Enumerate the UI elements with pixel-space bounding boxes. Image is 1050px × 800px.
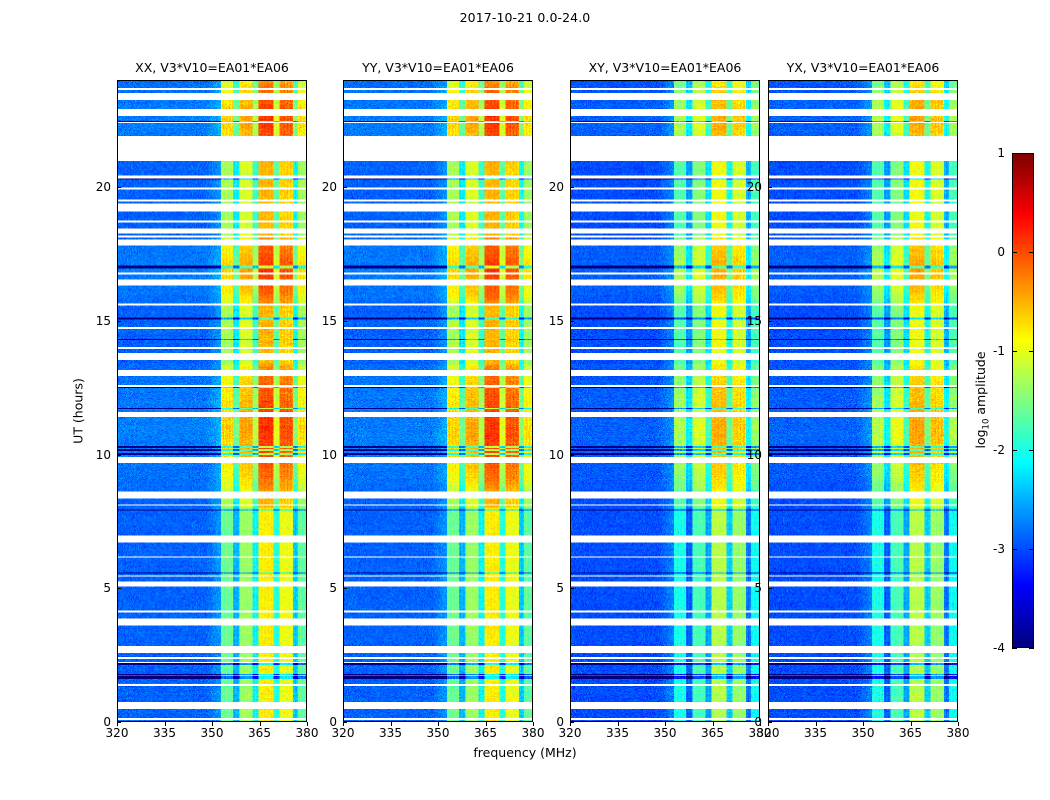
colorbar-tick-mark (1012, 351, 1017, 352)
y-tick-mark (768, 722, 772, 723)
colorbar-tick-mark (1012, 549, 1017, 550)
x-tick-label: 350 (427, 726, 450, 740)
y-tick-label: 0 (309, 715, 337, 729)
x-tick-label: 335 (606, 726, 629, 740)
y-tick-label: 0 (83, 715, 111, 729)
figure-canvas: 2017-10-21 0.0-24.0 XX, V3*V10=EA01*EA06… (0, 0, 1050, 800)
y-tick-label: 20 (734, 180, 762, 194)
y-tick-label: 10 (83, 448, 111, 462)
colorbar-tick-mark (1012, 252, 1017, 253)
y-tick-label: 5 (309, 581, 337, 595)
y-tick-label: 10 (734, 448, 762, 462)
colorbar-tick-mark (1012, 153, 1017, 154)
y-tick-label: 20 (536, 180, 564, 194)
y-tick-label: 10 (536, 448, 564, 462)
x-tick-label: 365 (474, 726, 497, 740)
y-tick-mark (117, 321, 121, 322)
y-tick-label: 0 (536, 715, 564, 729)
y-tick-label: 20 (83, 180, 111, 194)
y-tick-mark (117, 722, 121, 723)
colorbar-tick-label: 0 (975, 245, 1005, 259)
colorbar-tick-label: -1 (975, 344, 1005, 358)
x-tick-label: 350 (654, 726, 677, 740)
y-tick-mark (570, 187, 574, 188)
y-tick-label: 5 (83, 581, 111, 595)
colorbar-tick-mark (1029, 153, 1034, 154)
y-tick-mark (117, 455, 121, 456)
y-tick-mark (570, 722, 574, 723)
panel-title-yy: YY, V3*V10=EA01*EA06 (343, 60, 533, 76)
colorbar-label-sub: 10 (981, 419, 991, 430)
y-tick-mark (768, 321, 772, 322)
colorbar-label: log10 amplitude (973, 351, 992, 448)
x-tick-label: 350 (201, 726, 224, 740)
colorbar-label-suffix: amplitude (973, 351, 988, 418)
y-tick-label: 10 (309, 448, 337, 462)
y-tick-mark (570, 455, 574, 456)
y-tick-label: 15 (536, 314, 564, 328)
y-tick-mark (343, 588, 347, 589)
x-tick-label: 350 (852, 726, 875, 740)
figure-suptitle: 2017-10-21 0.0-24.0 (0, 10, 1050, 25)
x-tick-label: 365 (701, 726, 724, 740)
x-tick-label: 335 (804, 726, 827, 740)
waterfall-panel-xx[interactable] (117, 80, 307, 722)
y-tick-label: 5 (536, 581, 564, 595)
panel-title-xx: XX, V3*V10=EA01*EA06 (117, 60, 307, 76)
y-tick-mark (117, 588, 121, 589)
y-tick-mark (570, 321, 574, 322)
panel-title-xy: XY, V3*V10=EA01*EA06 (570, 60, 760, 76)
colorbar-tick-mark (1029, 252, 1034, 253)
y-tick-mark (768, 588, 772, 589)
waterfall-panel-yx[interactable] (768, 80, 958, 722)
colorbar-tick-label: 1 (975, 146, 1005, 160)
colorbar-tick-label: -3 (975, 542, 1005, 556)
x-axis-label: frequency (MHz) (0, 745, 1050, 760)
colorbar (1012, 153, 1034, 648)
colorbar-tick-mark (1029, 648, 1034, 649)
waterfall-panel-yy[interactable] (343, 80, 533, 722)
y-tick-label: 5 (734, 581, 762, 595)
y-tick-mark (343, 321, 347, 322)
y-axis-label: UT (hours) (71, 378, 86, 444)
panel-title-yx: YX, V3*V10=EA01*EA06 (768, 60, 958, 76)
y-tick-mark (343, 187, 347, 188)
y-tick-mark (768, 187, 772, 188)
x-tick-label: 365 (248, 726, 271, 740)
colorbar-tick-mark (1029, 450, 1034, 451)
colorbar-tick-mark (1012, 648, 1017, 649)
colorbar-tick-label: -4 (975, 641, 1005, 655)
y-tick-mark (768, 455, 772, 456)
x-tick-label: 335 (379, 726, 402, 740)
y-tick-mark (117, 187, 121, 188)
x-tick-label: 365 (899, 726, 922, 740)
x-tick-label: 380 (947, 726, 970, 740)
y-tick-label: 20 (309, 180, 337, 194)
colorbar-tick-mark (1029, 351, 1034, 352)
y-tick-label: 15 (83, 314, 111, 328)
y-tick-mark (343, 455, 347, 456)
y-tick-label: 15 (734, 314, 762, 328)
colorbar-tick-mark (1029, 549, 1034, 550)
x-tick-label: 335 (153, 726, 176, 740)
colorbar-tick-mark (1012, 450, 1017, 451)
y-tick-label: 15 (309, 314, 337, 328)
y-tick-mark (343, 722, 347, 723)
waterfall-panel-xy[interactable] (570, 80, 760, 722)
y-tick-label: 0 (734, 715, 762, 729)
y-tick-mark (570, 588, 574, 589)
colorbar-tick-label: -2 (975, 443, 1005, 457)
